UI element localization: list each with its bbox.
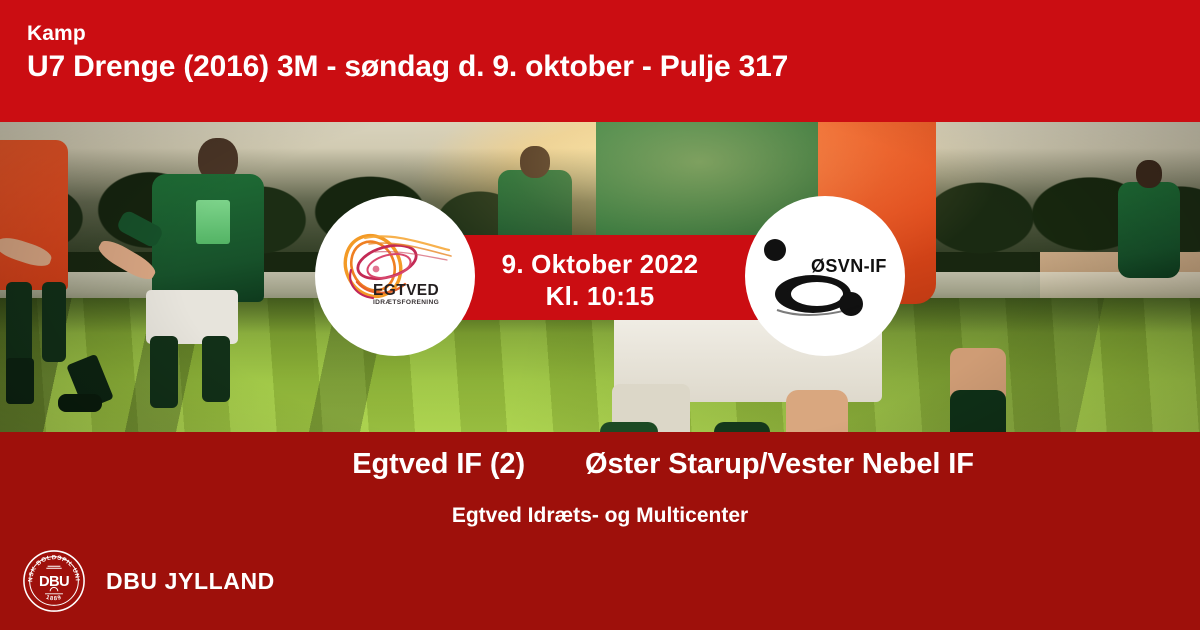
osvn-name: ØSVN-IF <box>811 256 887 277</box>
dbu-organization-label: DBU JYLLAND <box>106 568 275 595</box>
svg-text:1889: 1889 <box>45 595 63 603</box>
player-silhouette <box>1118 182 1180 278</box>
page-title: U7 Drenge (2016) 3M - søndag d. 9. oktob… <box>27 50 788 84</box>
home-team-badge: EGTVED IDRÆTSFORENING <box>315 196 475 356</box>
player-head <box>520 146 550 178</box>
match-poster: Kamp U7 Drenge (2016) 3M - søndag d. 9. … <box>0 0 1200 630</box>
egtved-logo: EGTVED IDRÆTSFORENING <box>329 228 461 324</box>
header-kicker: Kamp <box>27 22 86 46</box>
foreground-player-sock <box>950 390 1006 432</box>
player-leg <box>150 336 178 408</box>
player-leg <box>6 282 32 368</box>
match-datetime-band: 9. Oktober 2022 Kl. 10:15 <box>430 235 770 320</box>
away-team-name: Øster Starup/Vester Nebel IF <box>585 448 1005 481</box>
home-team-name: Egtved IF (2) <box>195 448 525 481</box>
poster-header: Kamp U7 Drenge (2016) 3M - søndag d. 9. … <box>0 0 1200 122</box>
venue-name: Egtved Idræts- og Multicenter <box>0 504 1200 528</box>
dbu-branding: DANSK BOLDSPIL UNION 1889 DBU DBU JYLLAN… <box>22 548 342 614</box>
match-time: Kl. 10:15 <box>430 281 770 312</box>
foreground-player-leg <box>786 390 848 432</box>
foreground-player-leg <box>714 422 770 432</box>
player-boot <box>58 394 102 412</box>
player-leg <box>202 336 230 402</box>
player-silhouette <box>0 140 68 290</box>
foreground-player-leg <box>600 422 658 432</box>
player-leg <box>42 282 66 362</box>
osvn-logo: ØSVN-IF <box>755 230 895 322</box>
player-sock <box>6 358 34 404</box>
egtved-subtitle: IDRÆTSFORENING <box>373 299 465 306</box>
team-names-row: Egtved IF (2) Øster Starup/Vester Nebel … <box>0 448 1200 481</box>
dbu-seal-icon: DANSK BOLDSPIL UNION 1889 DBU <box>22 549 86 613</box>
match-date: 9. Oktober 2022 <box>430 249 770 280</box>
egtved-name: EGTVED <box>373 282 463 300</box>
player-head <box>1136 160 1162 188</box>
away-team-badge: ØSVN-IF <box>745 196 905 356</box>
jersey-number <box>196 200 230 244</box>
